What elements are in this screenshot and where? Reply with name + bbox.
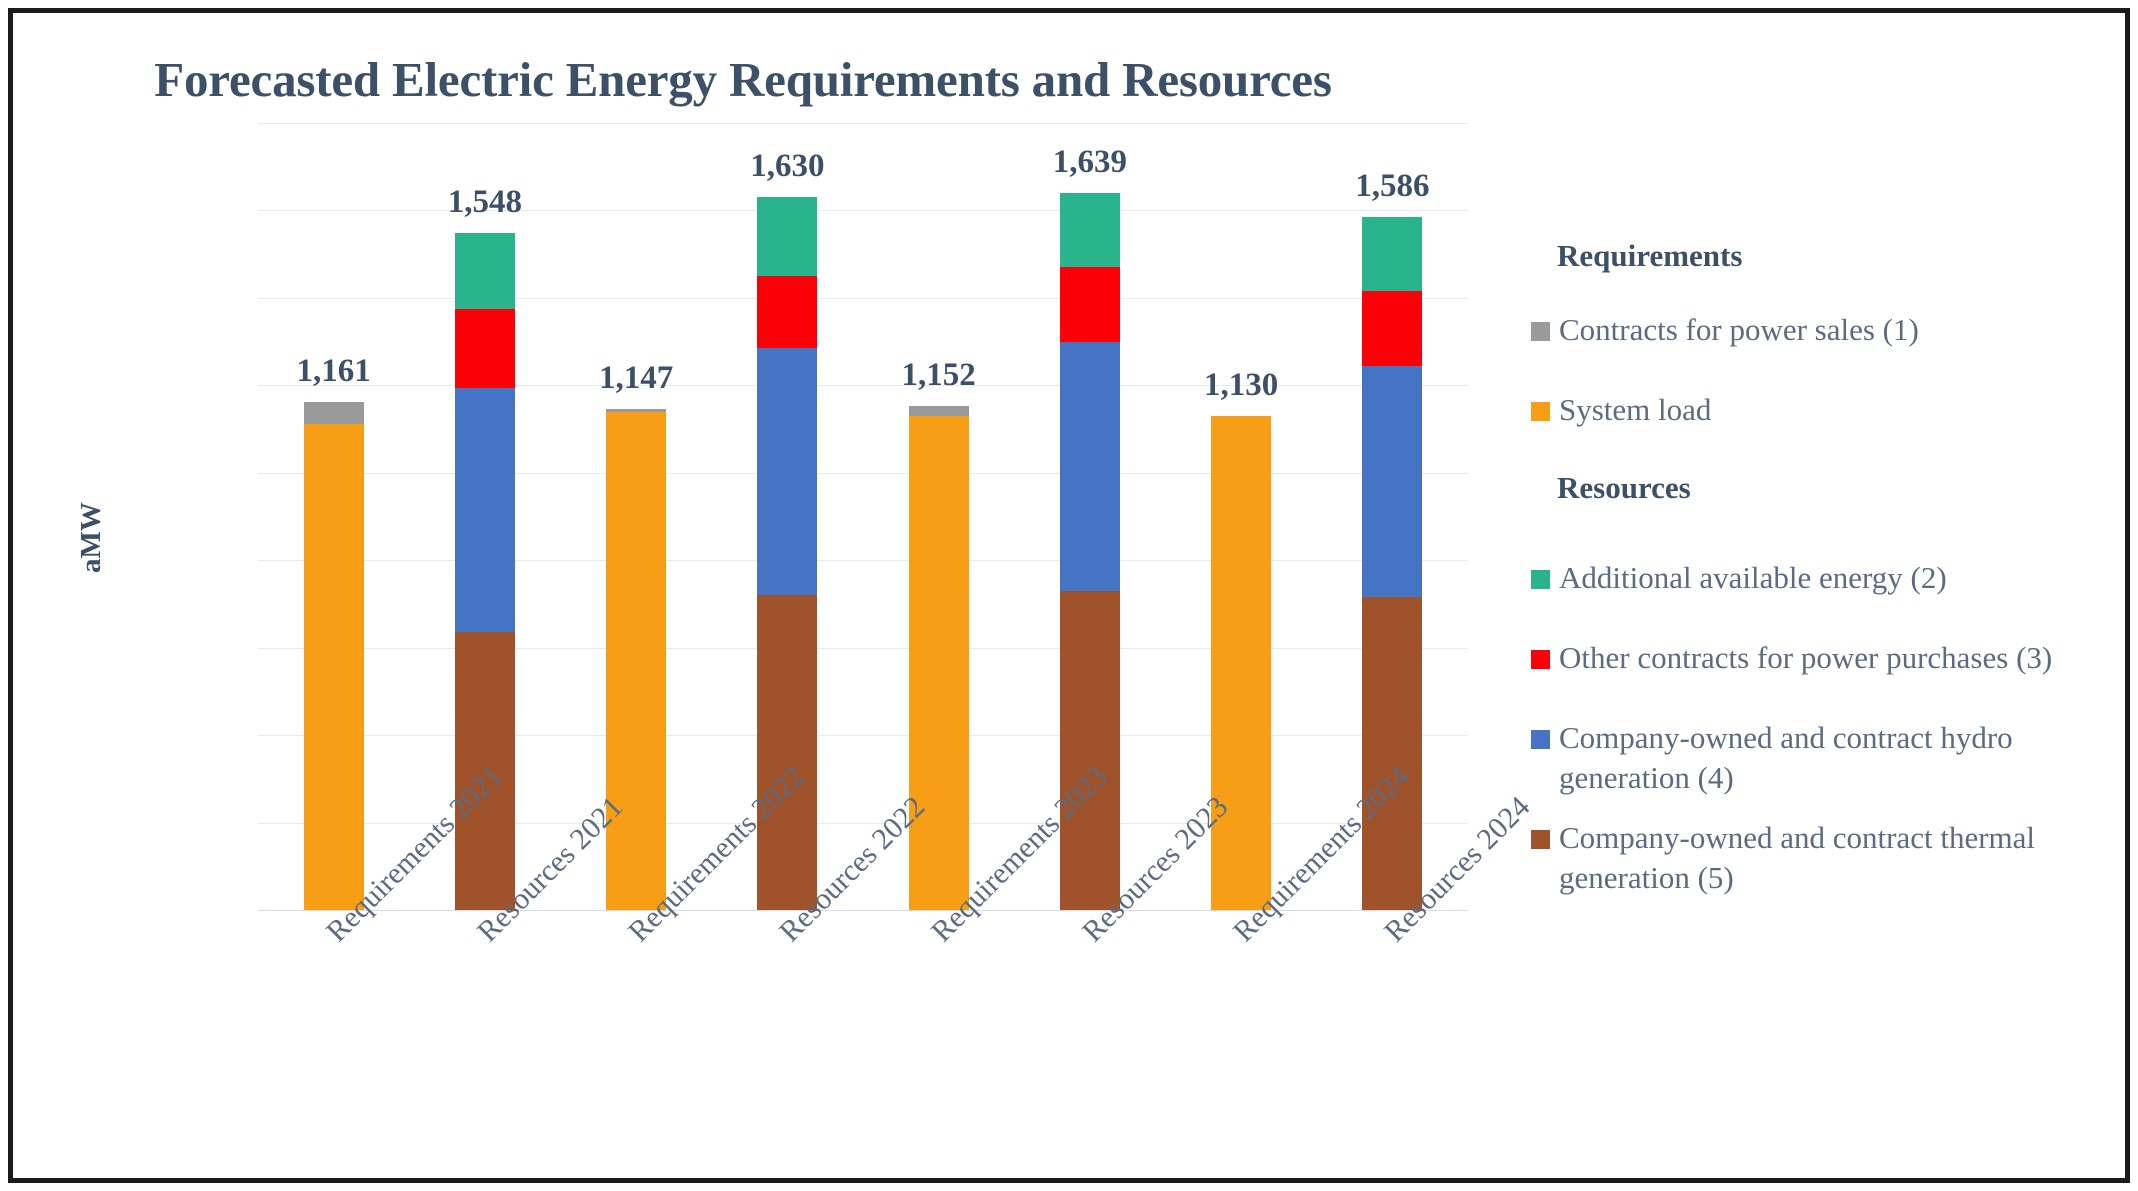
bar-total-label: 1,130 [1153,367,1329,404]
bar-group: 1,130 [1211,123,1271,910]
legend-item-label: Company-owned and contract thermal gener… [1559,818,2111,898]
bar-segment[interactable] [606,409,666,413]
bar-total-label: 1,161 [246,353,422,390]
stacked-bar[interactable] [304,402,364,910]
legend-item-contracts-for-power-sales[interactable]: Contracts for power sales (1) [1531,310,2111,350]
bar-segment[interactable] [455,388,515,633]
bar-segment[interactable] [1060,591,1120,910]
bar-segment[interactable] [1362,291,1422,365]
bar-segment[interactable] [757,348,817,595]
legend-item-label: Other contracts for power purchases (3) [1559,638,2052,678]
page-title: Forecasted Electric Energy Requirements … [13,51,1473,108]
legend-spacer [1531,280,2111,310]
bar-total-label: 1,147 [548,360,724,397]
legend-spacer [1531,436,2111,470]
legend-swatch-icon [1531,322,1550,341]
bar-segment[interactable] [757,197,817,276]
bar-total-label: 1,639 [1002,144,1178,181]
legend-swatch-icon [1531,650,1550,669]
bar-segment[interactable] [1060,267,1120,341]
chart-legend: Requirements Contracts for power sales (… [1531,238,2111,904]
legend-group-header-requirements: Requirements [1557,238,2111,274]
bar-segment[interactable] [909,416,969,910]
legend-item-label: System load [1559,390,1711,430]
bar-segment[interactable] [1211,416,1271,910]
chart-canvas: Forecasted Electric Energy Requirements … [13,13,2125,1178]
legend-item-label: Contracts for power sales (1) [1559,310,1919,350]
gridline [258,298,1468,299]
bar-group: 1,152 [909,123,969,910]
legend-item-thermal-generation[interactable]: Company-owned and contract thermal gener… [1531,818,2111,898]
legend-item-system-load[interactable]: System load [1531,390,2111,430]
bar-segment[interactable] [455,233,515,309]
bar-total-label: 1,586 [1304,168,1480,205]
legend-item-label: Company-owned and contract hydro generat… [1559,718,2111,798]
bar-segment[interactable] [1362,597,1422,910]
gridline [258,735,1468,736]
bar-segment[interactable] [606,412,666,910]
gridline [258,648,1468,649]
bar-segment[interactable] [304,424,364,910]
legend-group-header-resources: Resources [1557,470,2111,506]
gridline [258,473,1468,474]
bar-segment[interactable] [1362,217,1422,292]
legend-swatch-icon [1531,830,1550,849]
legend-spacer [1531,684,2111,718]
bar-total-label: 1,152 [851,357,1027,394]
legend-spacer [1531,804,2111,818]
legend-item-additional-available-energy[interactable]: Additional available energy (2) [1531,558,2111,598]
bar-group: 1,147 [606,123,666,910]
chart-border-frame: Forecasted Electric Energy Requirements … [8,8,2130,1183]
legend-spacer [1531,604,2111,638]
legend-swatch-icon [1531,730,1550,749]
bar-group: 1,161 [304,123,364,910]
legend-item-other-contracts-for-power-purchases[interactable]: Other contracts for power purchases (3) [1531,638,2111,678]
stacked-bar[interactable] [606,409,666,910]
bar-segment[interactable] [304,402,364,424]
legend-swatch-icon [1531,402,1550,421]
bar-segment[interactable] [1362,366,1422,598]
plot-area: 020040060080010001200140016001800 1,1611… [258,123,1468,910]
legend-spacer [1531,356,2111,390]
y-axis-title: aMW [75,502,108,573]
bar-total-label: 1,548 [397,184,573,221]
bar-segment[interactable] [1060,342,1120,591]
bar-segment[interactable] [1060,193,1120,267]
gridline [258,560,1468,561]
stacked-bar[interactable] [909,406,969,910]
legend-swatch-icon [1531,570,1550,589]
bar-segment[interactable] [909,406,969,416]
legend-spacer [1531,506,2111,558]
gridline [258,123,1468,124]
legend-item-label: Additional available energy (2) [1559,558,1947,598]
bar-segment[interactable] [455,309,515,388]
bar-segment[interactable] [757,276,817,348]
bar-total-label: 1,630 [699,148,875,185]
stacked-bar[interactable] [1211,416,1271,910]
bar-segment[interactable] [757,595,817,910]
legend-item-hydro-generation[interactable]: Company-owned and contract hydro generat… [1531,718,2111,798]
